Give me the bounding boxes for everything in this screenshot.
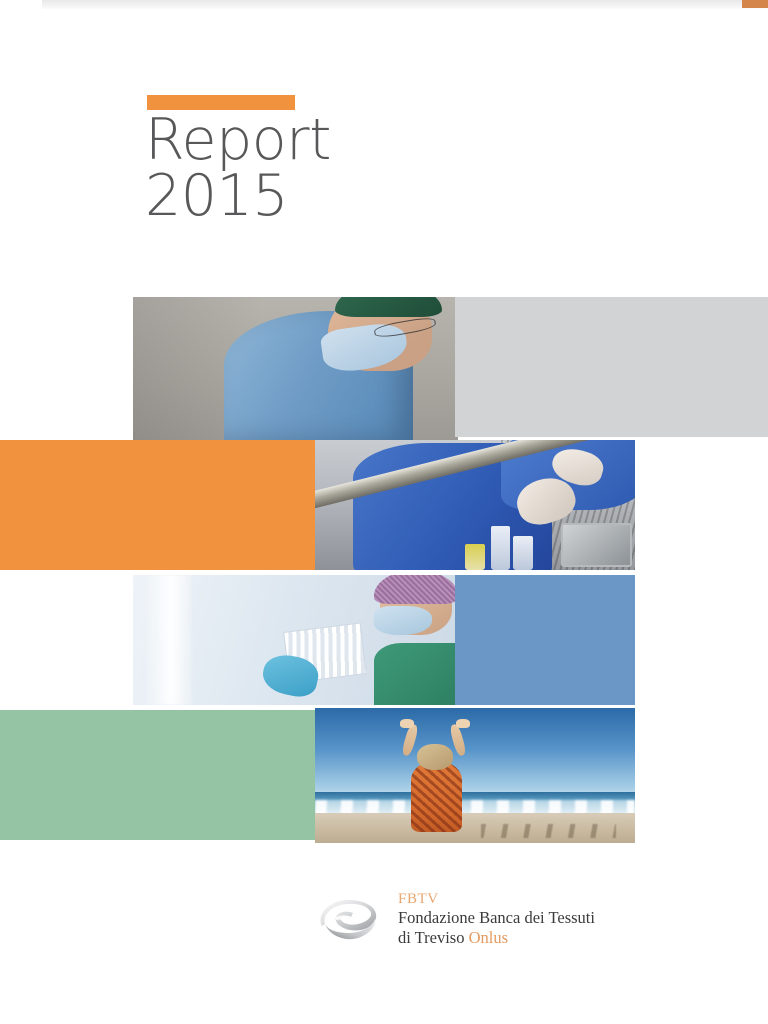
girl-hand-left — [400, 719, 414, 728]
fbtv-ribbon-logo-icon — [312, 890, 384, 948]
photo-beach — [315, 708, 635, 843]
lab-vial-a — [491, 526, 510, 570]
block-gray — [455, 297, 768, 437]
lab-vial-b — [513, 536, 532, 570]
girl-dress — [411, 762, 462, 832]
beach-sky — [315, 708, 635, 800]
fbtv-logo: FBTV Fondazione Banca dei Tessuti di Tre… — [312, 890, 595, 948]
cryo-frost — [146, 575, 192, 705]
logo-line-2-main: di Treviso — [398, 928, 469, 947]
block-orange — [0, 440, 315, 570]
girl-hand-right — [456, 719, 470, 728]
cryo-cap — [374, 575, 459, 604]
logo-onlus: Onlus — [469, 928, 508, 947]
photo-cryo — [133, 575, 458, 705]
surgeon-cap — [335, 297, 442, 317]
lab-vial-yellow — [465, 544, 484, 570]
cryo-mask — [374, 606, 433, 635]
logo-line-2: di Treviso Onlus — [398, 928, 595, 947]
lab-steel-tray — [561, 523, 631, 567]
fbtv-logo-text: FBTV Fondazione Banca dei Tessuti di Tre… — [398, 891, 595, 948]
block-blue — [455, 575, 635, 705]
report-cover-page: Report 2015 — [0, 0, 768, 1024]
logo-acronym: FBTV — [398, 891, 595, 909]
logo-line-1: Fondazione Banca dei Tessuti — [398, 908, 595, 927]
cover-collage — [0, 0, 768, 1024]
photo-lab — [315, 440, 635, 570]
photo-surgeon — [133, 297, 458, 440]
beach-footprints — [481, 824, 615, 838]
block-green — [0, 710, 315, 840]
cryo-scrubs — [374, 643, 459, 705]
girl-head — [417, 744, 452, 770]
